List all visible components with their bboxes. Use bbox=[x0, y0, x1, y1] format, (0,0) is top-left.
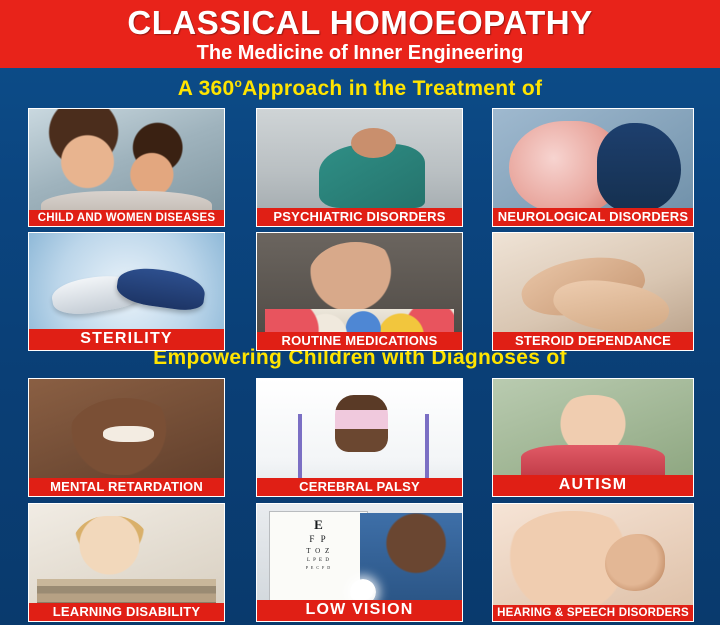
caption-hearing-and-speech-disorders: HEARING & SPEECH DISORDERS bbox=[493, 605, 693, 621]
tagline-top-post: Approach in the Treatment of bbox=[242, 77, 542, 100]
eye-chart-row-4: L P E D bbox=[307, 558, 330, 563]
card-neurological-disorders[interactable]: NEUROLOGICAL DISORDERS bbox=[492, 108, 694, 227]
card-sterility[interactable]: STERILITY bbox=[28, 232, 225, 351]
card-low-vision[interactable]: E F P T O Z L P E D P E C F D LOW VISION bbox=[256, 503, 463, 622]
card-routine-medications[interactable]: ROUTINE MEDICATIONS bbox=[256, 232, 463, 351]
caption-mental-retardation: MENTAL RETARDATION bbox=[29, 478, 224, 496]
caption-low-vision: LOW VISION bbox=[257, 600, 462, 621]
caption-cerebral-palsy: CEREBRAL PALSY bbox=[257, 478, 462, 496]
caption-psychiatric-disorders: PSYCHIATRIC DISORDERS bbox=[257, 208, 462, 226]
card-mental-retardation[interactable]: MENTAL RETARDATION bbox=[28, 378, 225, 497]
caption-neurological-disorders: NEUROLOGICAL DISORDERS bbox=[493, 208, 693, 226]
caption-learning-disability: LEARNING DISABILITY bbox=[29, 603, 224, 621]
eye-chart-row-3: T O Z bbox=[306, 547, 330, 555]
poster-root: CLASSICAL HOMOEOPATHY The Medicine of In… bbox=[0, 0, 720, 625]
poster-subtitle: The Medicine of Inner Engineering bbox=[197, 43, 524, 63]
card-psychiatric-disorders[interactable]: PSYCHIATRIC DISORDERS bbox=[256, 108, 463, 227]
caption-steroid-dependance: STEROID DEPENDANCE bbox=[493, 332, 693, 350]
caption-sterility: STERILITY bbox=[29, 329, 224, 350]
tagline-top: A 360oApproach in the Treatment of bbox=[0, 76, 720, 101]
card-steroid-dependance[interactable]: STEROID DEPENDANCE bbox=[492, 232, 694, 351]
poster-header: CLASSICAL HOMOEOPATHY The Medicine of In… bbox=[0, 0, 720, 68]
caption-autism: AUTISM bbox=[493, 475, 693, 496]
eye-chart-row-5: P E C F D bbox=[306, 565, 331, 570]
poster-title: CLASSICAL HOMOEOPATHY bbox=[127, 6, 592, 39]
card-learning-disability[interactable]: LEARNING DISABILITY bbox=[28, 503, 225, 622]
caption-routine-medications: ROUTINE MEDICATIONS bbox=[257, 332, 462, 350]
hearing-and-speech-disorders-photo bbox=[493, 504, 693, 621]
card-cerebral-palsy[interactable]: CEREBRAL PALSY bbox=[256, 378, 463, 497]
card-autism[interactable]: AUTISM bbox=[492, 378, 694, 497]
card-child-and-women-diseases[interactable]: CHILD AND WOMEN DISEASES bbox=[28, 108, 225, 227]
eye-chart-row-1: E bbox=[314, 518, 323, 531]
eye-chart-row-2: F P bbox=[309, 534, 327, 544]
child-and-women-diseases-photo bbox=[29, 109, 224, 226]
degree-symbol: o bbox=[235, 76, 243, 90]
tagline-top-pre: A 360 bbox=[178, 77, 235, 100]
caption-child-and-women-diseases: CHILD AND WOMEN DISEASES bbox=[29, 210, 224, 226]
card-hearing-and-speech-disorders[interactable]: HEARING & SPEECH DISORDERS bbox=[492, 503, 694, 622]
